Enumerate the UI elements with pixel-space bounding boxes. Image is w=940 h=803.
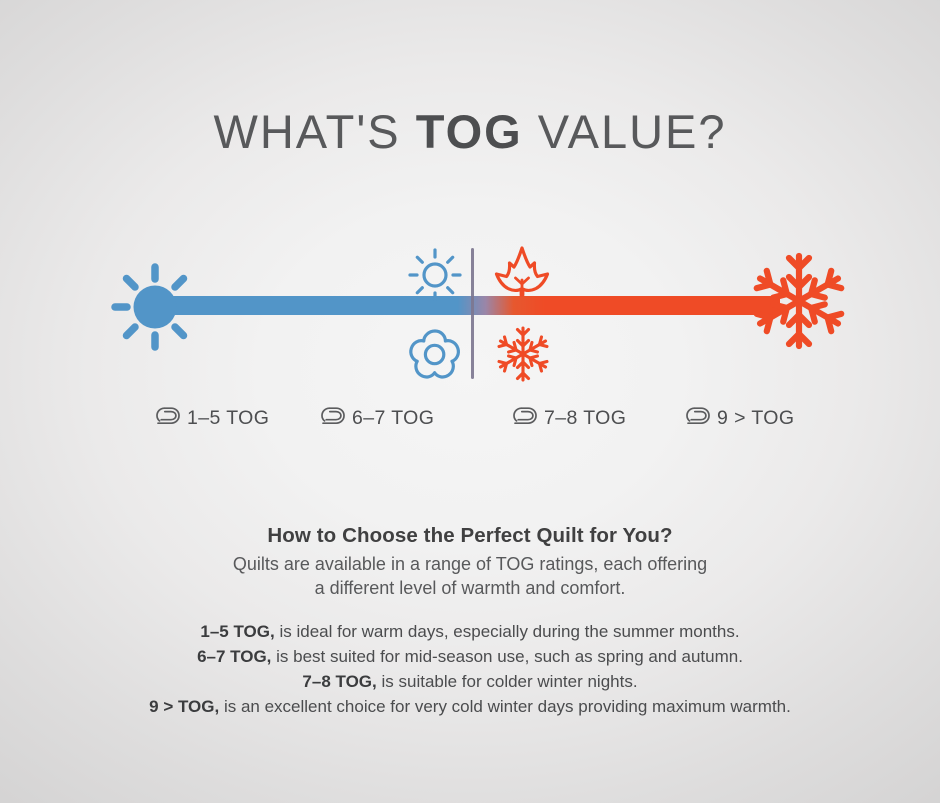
flower-icon bbox=[404, 323, 466, 388]
tog-description-text: is suitable for colder winter nights. bbox=[377, 672, 638, 691]
maple-leaf-icon bbox=[487, 242, 557, 311]
title-prefix: WHAT'S bbox=[213, 105, 415, 158]
tog-description-row: 7–8 TOG, is suitable for colder winter n… bbox=[0, 669, 940, 694]
rolled-quilt-icon bbox=[320, 406, 346, 431]
legend-item-1-5-tog: 1–5 TOG bbox=[155, 406, 269, 431]
tog-description-row: 6–7 TOG, is best suited for mid-season u… bbox=[0, 644, 940, 669]
title-text: WHAT'S TOG VALUE? bbox=[0, 104, 940, 159]
body-subtitle-line-2: a different level of warmth and comfort. bbox=[0, 577, 940, 601]
body-subtitle-line-1: Quilts are available in a range of TOG r… bbox=[0, 553, 940, 577]
legend-label: 6–7 TOG bbox=[352, 407, 434, 430]
tog-value-infographic: WHAT'S TOG VALUE? bbox=[0, 0, 940, 803]
title-emphasis: TOG bbox=[416, 105, 523, 158]
legend-label: 1–5 TOG bbox=[187, 407, 269, 430]
snowflake-small-icon bbox=[491, 323, 555, 390]
rolled-quilt-icon bbox=[155, 406, 181, 431]
tog-description-list: 1–5 TOG, is ideal for warm days, especia… bbox=[0, 619, 940, 720]
body-section: How to Choose the Perfect Quilt for You?… bbox=[0, 524, 940, 601]
rolled-quilt-icon bbox=[685, 406, 711, 431]
scale-divider bbox=[471, 248, 474, 379]
legend-item-9-plus-tog: 9 > TOG bbox=[685, 406, 794, 431]
legend-item-6-7-tog: 6–7 TOG bbox=[320, 406, 434, 431]
legend-label: 9 > TOG bbox=[717, 407, 794, 430]
tog-description-text: is an excellent choice for very cold win… bbox=[219, 697, 791, 716]
snowflake-large-icon bbox=[745, 248, 853, 359]
legend-item-7-8-tog: 7–8 TOG bbox=[512, 406, 626, 431]
tog-description-tag: 1–5 TOG, bbox=[200, 622, 274, 641]
tog-description-tag: 7–8 TOG, bbox=[302, 672, 376, 691]
sun-outline-icon bbox=[404, 245, 466, 310]
legend-label: 7–8 TOG bbox=[544, 407, 626, 430]
warmth-gradient-bar bbox=[160, 296, 780, 315]
rolled-quilt-icon bbox=[512, 406, 538, 431]
tog-scale bbox=[0, 230, 940, 400]
tog-description-row: 9 > TOG, is an excellent choice for very… bbox=[0, 694, 940, 719]
tog-description-row: 1–5 TOG, is ideal for warm days, especia… bbox=[0, 619, 940, 644]
tog-description-tag: 6–7 TOG, bbox=[197, 647, 271, 666]
tog-legend: 1–5 TOG 6–7 TOG 7–8 TOG bbox=[0, 406, 940, 442]
body-heading: How to Choose the Perfect Quilt for You? bbox=[0, 524, 940, 548]
tog-description-tag: 9 > TOG, bbox=[149, 697, 219, 716]
tog-description-text: is best suited for mid-season use, such … bbox=[271, 647, 743, 666]
title-suffix: VALUE? bbox=[523, 105, 727, 158]
page-title: WHAT'S TOG VALUE? bbox=[0, 104, 940, 159]
body-subtitle: Quilts are available in a range of TOG r… bbox=[0, 553, 940, 601]
sun-filled-icon bbox=[105, 258, 205, 361]
tog-description-text: is ideal for warm days, especially durin… bbox=[275, 622, 740, 641]
